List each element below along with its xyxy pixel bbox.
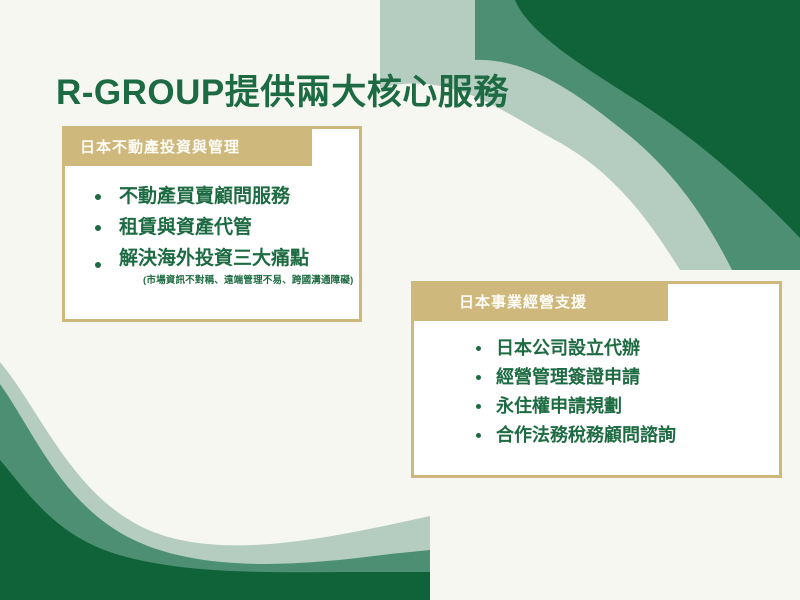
bullet-dot-icon	[95, 194, 101, 200]
list-item-label: 租賃與資產代管	[119, 217, 252, 238]
list-item: 經營管理簽證申請	[472, 363, 769, 392]
wave-dark-green-top	[515, 0, 800, 238]
list-item: 租賃與資產代管	[87, 212, 349, 243]
list-item-label: 解決海外投資三大痛點	[119, 248, 309, 269]
card-header-real-estate: 日本不動產投資與管理	[62, 126, 312, 166]
bullet-dot-icon	[476, 346, 481, 351]
bullet-dot-icon	[95, 262, 101, 268]
wave-light-green-bottom	[0, 362, 430, 600]
list-item-label: 合作法務稅務顧問諮詢	[496, 425, 676, 445]
slide-canvas: R-GROUP提供兩大核心服務 日本不動產投資與管理 不動產買賣顧問服務 租賃與…	[0, 0, 800, 600]
bullet-dot-icon	[476, 433, 481, 438]
wave-mid-green-bottom	[0, 384, 430, 600]
wave-mid-green-top	[475, 0, 800, 270]
list-item-label: 日本公司設立代辦	[496, 338, 640, 358]
list-item: 合作法務稅務顧問諮詢	[472, 421, 769, 450]
list-item-label: 不動產買賣顧問服務	[119, 186, 290, 207]
bullet-dot-icon	[476, 404, 481, 409]
list-item: 日本公司設立代辦	[472, 334, 769, 363]
list-item-note: (市場資訊不對稱、遠端管理不易、跨國溝通障礙)	[143, 275, 349, 287]
bullet-dot-icon	[476, 375, 481, 380]
card-body-business-support: 日本公司設立代辦 經營管理簽證申請 永住權申請規劃 合作法務稅務顧問諮詢	[414, 328, 779, 450]
card-japan-business-support: 日本事業經營支援 日本公司設立代辦 經營管理簽證申請 永住權申請規劃 合作法務稅…	[411, 281, 782, 478]
list-item: 永住權申請規劃	[472, 392, 769, 421]
list-item-label: 永住權申請規劃	[496, 396, 622, 416]
decorative-wave-top-right	[380, 0, 800, 270]
service-list-business-support: 日本公司設立代辦 經營管理簽證申請 永住權申請規劃 合作法務稅務顧問諮詢	[472, 334, 769, 450]
list-item-label: 經營管理簽證申請	[496, 367, 640, 387]
card-header-business-support: 日本事業經營支援	[411, 281, 668, 321]
page-title: R-GROUP提供兩大核心服務	[56, 64, 509, 115]
wave-light-green-top	[380, 0, 800, 270]
wave-dark-green-bottom	[0, 460, 430, 600]
card-japan-real-estate: 日本不動產投資與管理 不動產買賣顧問服務 租賃與資產代管 解決海外投資三大痛點 …	[62, 126, 362, 322]
list-item: 解決海外投資三大痛點 (市場資訊不對稱、遠端管理不易、跨國溝通障礙)	[87, 243, 349, 287]
decorative-wave-bottom-left	[0, 340, 430, 600]
card-body-real-estate: 不動產買賣顧問服務 租賃與資產代管 解決海外投資三大痛點 (市場資訊不對稱、遠端…	[65, 173, 359, 287]
service-list-real-estate: 不動產買賣顧問服務 租賃與資產代管 解決海外投資三大痛點 (市場資訊不對稱、遠端…	[87, 181, 349, 287]
bullet-dot-icon	[95, 225, 101, 231]
list-item: 不動產買賣顧問服務	[87, 181, 349, 212]
